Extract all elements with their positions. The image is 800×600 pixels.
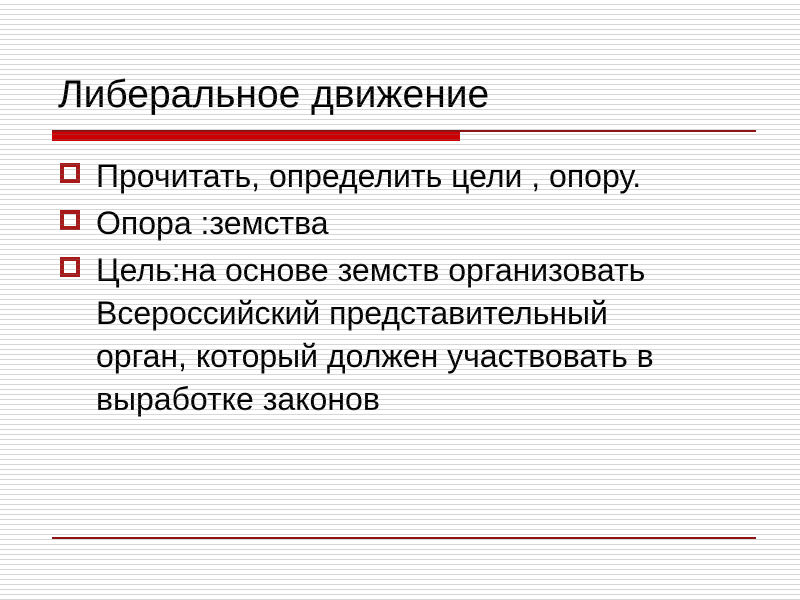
list-item: Цель:на основе земств организовать Всеро… bbox=[52, 249, 692, 421]
list-item-label: Цель:на основе земств организовать Всеро… bbox=[96, 249, 692, 421]
page-title: Либеральное движение bbox=[58, 72, 758, 118]
list-item: Прочитать, определить цели , опору. bbox=[52, 155, 692, 198]
title-divider-thick-bar bbox=[52, 132, 460, 141]
list-item-label: Опора :земства bbox=[96, 202, 692, 245]
list-item-label: Прочитать, определить цели , опору. bbox=[96, 155, 692, 198]
list-item: Опора :земства bbox=[52, 202, 692, 245]
bullet-list: Прочитать, определить цели , опору. Опор… bbox=[52, 155, 692, 425]
slide-canvas: Либеральное движение Прочитать, определи… bbox=[0, 0, 800, 600]
square-bullet-icon bbox=[60, 257, 80, 277]
square-bullet-icon bbox=[60, 163, 80, 183]
square-bullet-icon bbox=[60, 210, 80, 230]
footer-divider bbox=[52, 537, 756, 539]
title-divider bbox=[52, 128, 756, 142]
